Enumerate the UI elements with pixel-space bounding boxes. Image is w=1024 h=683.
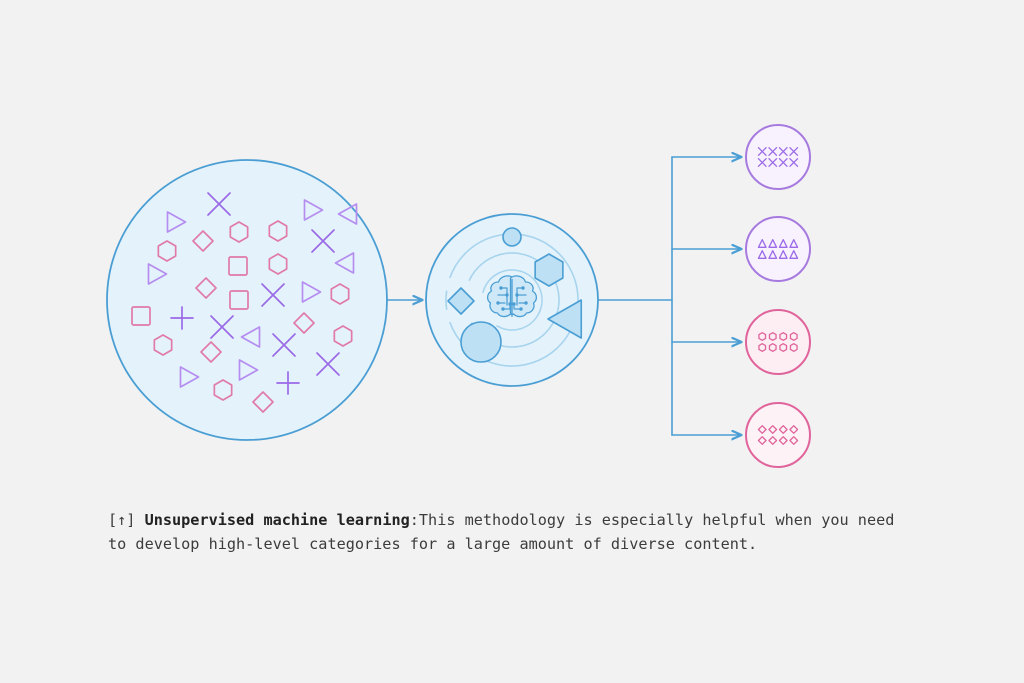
cluster-hexagons <box>746 310 810 374</box>
cluster-hexagons-circle <box>746 310 810 374</box>
brain-node <box>515 293 518 296</box>
cluster-triangles-circle <box>746 217 810 281</box>
diagram-canvas: [↑] Unsupervised machine learning:This m… <box>0 0 1024 683</box>
caption-marker: [↑] <box>108 511 145 529</box>
brain-node <box>521 286 524 289</box>
orbit-arc <box>446 291 447 309</box>
unlabeled-data-pool <box>107 160 387 440</box>
caption-separator: : <box>410 511 419 529</box>
satellite-circle-0 <box>503 228 521 246</box>
caption: [↑] Unsupervised machine learning:This m… <box>108 508 918 556</box>
brain-node <box>508 302 511 305</box>
brain-node <box>499 286 502 289</box>
brain-node <box>519 307 522 310</box>
input-cluster-circle <box>107 160 387 440</box>
brain-node <box>524 301 527 304</box>
cluster-x-marks <box>746 125 810 189</box>
satellite-hexagon <box>535 254 563 286</box>
brain-node <box>501 307 504 310</box>
brain-circuit-icon <box>488 276 537 317</box>
cluster-diamonds-circle <box>746 403 810 467</box>
clustering-diagram <box>0 0 1024 683</box>
brain-node <box>505 293 508 296</box>
machine-learning-model <box>426 214 598 386</box>
output-cluster-group <box>746 125 810 467</box>
cluster-x-marks-circle <box>746 125 810 189</box>
satellite-circle-4 <box>461 322 501 362</box>
cluster-diamonds <box>746 403 810 467</box>
brain-node <box>512 302 515 305</box>
cluster-triangles <box>746 217 810 281</box>
brain-node <box>496 301 499 304</box>
caption-label: Unsupervised machine learning <box>145 511 410 529</box>
